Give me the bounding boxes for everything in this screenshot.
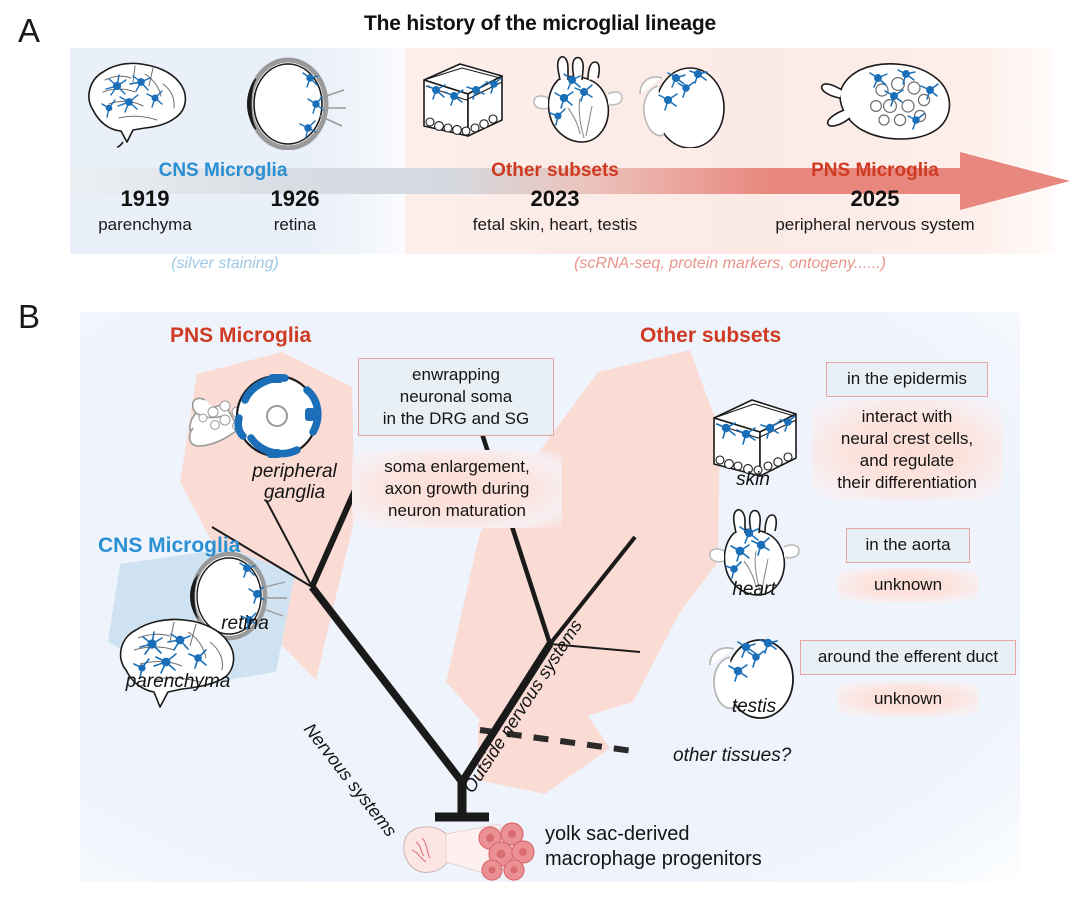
- tissue-label-parenchyma: parenchyma: [98, 672, 258, 693]
- panelA-year-2025: 2025: [820, 188, 930, 210]
- testis-icon: [634, 56, 734, 148]
- callout-line: in the DRG and SG: [367, 408, 545, 430]
- panelA-group-pns: PNS Microglia: [760, 161, 990, 180]
- callout-line: unknown: [848, 574, 968, 596]
- callout-glow-skin-function: interact with neural crest cells, and re…: [812, 400, 1002, 500]
- callout-line: neural crest cells,: [822, 428, 992, 450]
- callout-line: soma enlargement,: [362, 456, 552, 478]
- callout-line: around the efferent duct: [809, 646, 1007, 668]
- tissue-label-retina: retina: [200, 614, 290, 635]
- panelA-year-1926: 1926: [240, 188, 350, 210]
- tissue-label-other-tissues: other tissues?: [673, 746, 853, 767]
- callout-line: interact with: [822, 406, 992, 428]
- tissue-label-testis: testis: [714, 697, 794, 718]
- origin-label: yolk sac-derived macrophage progenitors: [545, 822, 875, 872]
- brain-icon: [75, 52, 205, 150]
- tissue-label-peripheral-ganglia: peripheral ganglia: [232, 462, 357, 503]
- callout-line: neuron maturation: [362, 500, 552, 522]
- panelA-method-scrna: (scRNA-seq, protein markers, ontogeny...…: [430, 256, 1030, 272]
- panelA-group-other: Other subsets: [440, 161, 670, 180]
- callout-line: neuronal soma: [367, 386, 545, 408]
- panelA-year-1919: 1919: [90, 188, 200, 210]
- eye-icon: [232, 52, 352, 150]
- callout-glow-heart-function: unknown: [838, 568, 978, 602]
- callout-line: in the aorta: [855, 534, 961, 556]
- callout-box-testis-location: around the efferent duct: [800, 640, 1016, 675]
- ganglion-icon: [820, 56, 960, 148]
- callout-box-pns-location: enwrapping neuronal soma in the DRG and …: [358, 358, 554, 436]
- origin-line-1: yolk sac-derived: [545, 822, 875, 847]
- panelB-title-other: Other subsets: [640, 325, 781, 346]
- callout-line: axon growth during: [362, 478, 552, 500]
- panelA-tissue-retina: retina: [232, 216, 358, 233]
- callout-line: unknown: [848, 688, 968, 710]
- panelA-group-cns: CNS Microglia: [108, 161, 338, 180]
- panel-a-title: The history of the microglial lineage: [0, 12, 1080, 36]
- callout-box-skin-location: in the epidermis: [826, 362, 988, 397]
- panelA-tissue-other: fetal skin, heart, testis: [420, 216, 690, 233]
- origin-line-2: macrophage progenitors: [545, 847, 875, 872]
- callout-line: their differentiation: [822, 472, 992, 494]
- tissue-label-heart: heart: [714, 580, 794, 601]
- callout-line: enwrapping: [367, 364, 545, 386]
- callout-line: and regulate: [822, 450, 992, 472]
- skin-cube-icon: [410, 56, 514, 148]
- figure-root: A The history of the microglial lineage: [0, 0, 1080, 897]
- callout-glow-pns-function: soma enlargement, axon growth during neu…: [352, 450, 562, 528]
- panelA-tissue-pns: peripheral nervous system: [740, 216, 1010, 233]
- callout-line: in the epidermis: [835, 368, 979, 390]
- callout-box-heart-location: in the aorta: [846, 528, 970, 563]
- callout-glow-testis-function: unknown: [838, 682, 978, 716]
- panelA-tissue-parenchyma: parenchyma: [70, 216, 220, 233]
- heart-icon: [524, 54, 628, 148]
- panel-b-letter: B: [18, 300, 40, 333]
- panelA-year-2023: 2023: [500, 188, 610, 210]
- tissue-label-skin: skin: [718, 470, 788, 491]
- panelA-method-silver: (silver staining): [110, 256, 340, 272]
- yolk-sac-icon: [400, 818, 540, 888]
- panelB-title-pns: PNS Microglia: [170, 325, 311, 346]
